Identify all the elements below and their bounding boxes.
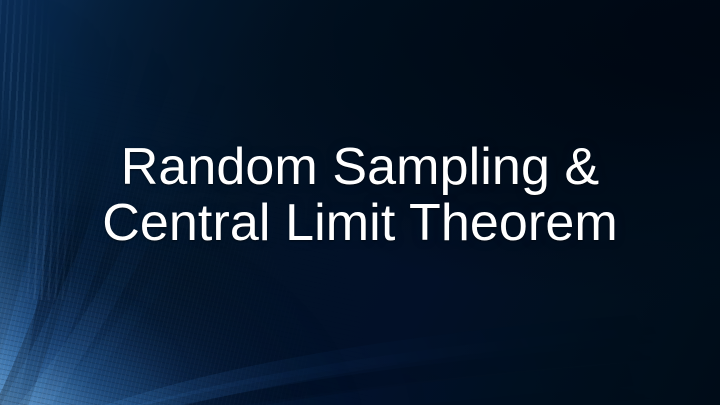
title-slide: Random Sampling & Central Limit Theorem — [0, 0, 720, 405]
slide-title: Random Sampling & Central Limit Theorem — [0, 139, 720, 251]
title-line-2: Central Limit Theorem — [24, 195, 696, 251]
title-line-1: Random Sampling & — [24, 139, 696, 195]
